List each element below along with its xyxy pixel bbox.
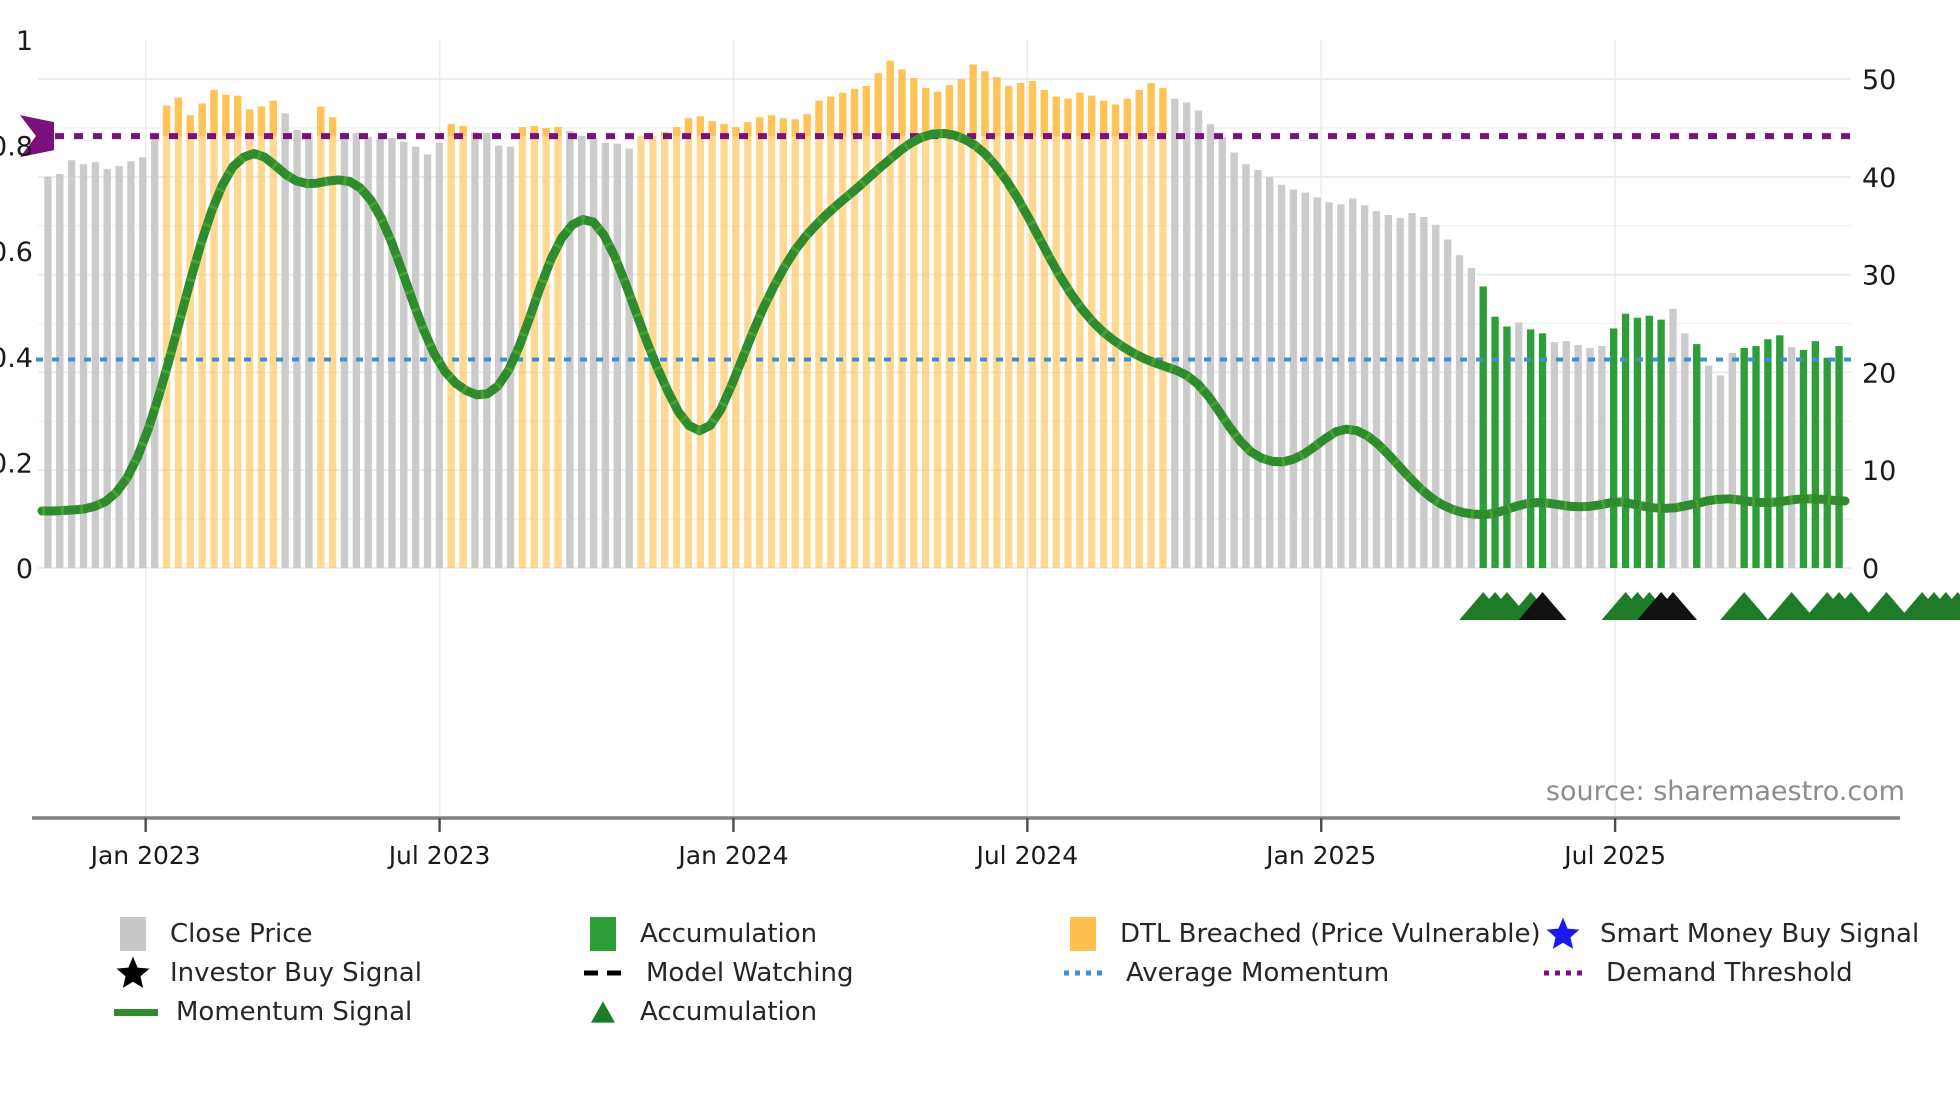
bar-close-price[interactable]	[1397, 218, 1404, 568]
bar-dtl-breached[interactable]	[827, 97, 834, 568]
bar-dtl-breached-cap[interactable]	[1159, 88, 1166, 136]
right-axis-labels: 01020304050	[1862, 65, 1896, 585]
bar-close-price[interactable]	[1266, 177, 1273, 568]
bar-close-price[interactable]	[614, 144, 621, 568]
bar-dtl-breached-cap[interactable]	[270, 101, 277, 136]
dotted-line-icon	[1542, 967, 1590, 979]
bar-accumulation[interactable]	[1800, 350, 1807, 568]
bar-accumulation[interactable]	[1610, 328, 1617, 568]
bar-dtl-breached[interactable]	[851, 89, 858, 568]
bar-close-price[interactable]	[1408, 213, 1415, 568]
bar-close-price[interactable]	[1254, 170, 1261, 568]
bar-accumulation[interactable]	[1835, 346, 1842, 568]
bar-dtl-breached[interactable]	[1053, 97, 1060, 568]
bar-accumulation[interactable]	[1752, 346, 1759, 568]
bar-close-price[interactable]	[1349, 198, 1356, 568]
bar-dtl-breached[interactable]	[542, 128, 549, 568]
bar-dtl-breached[interactable]	[839, 93, 846, 568]
legend-label: Demand Threshold	[1606, 954, 1853, 992]
legend-item-demand-threshold[interactable]: Demand Threshold	[1540, 954, 1853, 992]
bar-close-price[interactable]	[1242, 164, 1249, 568]
legend-item-accumulation-marker[interactable]: Accumulation	[580, 993, 817, 1031]
bar-close-price[interactable]	[1468, 268, 1475, 568]
legend-item-close-price[interactable]: Close Price	[110, 915, 313, 953]
bar-close-price[interactable]	[1207, 124, 1214, 568]
bar-dtl-breached[interactable]	[732, 127, 739, 568]
bar-dtl-breached[interactable]	[910, 78, 917, 568]
bar-close-price[interactable]	[1586, 348, 1593, 568]
legend-item-model-watching[interactable]: Model Watching	[580, 954, 853, 992]
x-axis-labels: Jan 2023Jul 2023Jan 2024Jul 2024Jan 2025…	[89, 818, 1666, 870]
legend-row-3: Momentum SignalAccumulation	[0, 993, 1960, 1031]
dotted-line-icon	[1062, 967, 1110, 979]
bar-dtl-breached[interactable]	[756, 117, 763, 568]
accumulation-markers	[1459, 592, 1960, 620]
left-axis-tick: 0.4	[0, 343, 33, 374]
bar-accumulation[interactable]	[1776, 335, 1783, 568]
bar-dtl-breached-cap[interactable]	[1076, 93, 1083, 136]
bar-dtl-breached-cap[interactable]	[1041, 90, 1048, 136]
bar-dtl-breached[interactable]	[792, 119, 799, 568]
bar-accumulation[interactable]	[1503, 326, 1510, 568]
bar-dtl-breached[interactable]	[673, 127, 680, 568]
bar-dtl-breached-cap[interactable]	[222, 95, 229, 136]
bar-dtl-breached[interactable]	[198, 104, 205, 568]
bar-dtl-breached-cap[interactable]	[886, 61, 893, 137]
bar-close-price[interactable]	[1171, 99, 1178, 568]
bar-dtl-breached-cap[interactable]	[1005, 86, 1012, 136]
bar-dtl-breached-cap[interactable]	[1100, 101, 1107, 136]
right-axis-tick: 20	[1862, 358, 1896, 389]
bar-dtl-breached[interactable]	[720, 124, 727, 568]
bar-dtl-breached-cap[interactable]	[1147, 83, 1154, 136]
bar-dtl-breached-cap[interactable]	[827, 97, 834, 136]
right-axis-tick: 50	[1862, 65, 1896, 96]
bar-dtl-breached-cap[interactable]	[1088, 96, 1095, 136]
dtl-breached-swatch	[1060, 917, 1106, 951]
bar-dtl-breached-cap[interactable]	[839, 93, 846, 136]
bar-dtl-breached-cap[interactable]	[448, 124, 455, 136]
legend-item-dtl-breached[interactable]: DTL Breached (Price Vulnerable)	[1060, 915, 1541, 953]
bar-close-price[interactable]	[1432, 225, 1439, 568]
bar-close-price[interactable]	[1705, 366, 1712, 568]
bar-close-price[interactable]	[1788, 347, 1795, 568]
bar-dtl-breached[interactable]	[1029, 81, 1036, 568]
bar-dtl-breached[interactable]	[922, 88, 929, 568]
bar-dtl-breached-cap[interactable]	[1053, 97, 1060, 136]
bar-close-price[interactable]	[1337, 204, 1344, 568]
bar-accumulation[interactable]	[1622, 314, 1629, 568]
bar-close-price[interactable]	[1290, 190, 1297, 568]
legend-row-1: Close PriceAccumulationDTL Breached (Pri…	[0, 915, 1960, 953]
bar-dtl-breached-cap[interactable]	[210, 90, 217, 136]
bar-dtl-breached[interactable]	[531, 126, 538, 568]
bar-close-price[interactable]	[1456, 255, 1463, 568]
bar-dtl-breached-cap[interactable]	[875, 73, 882, 136]
legend-row-2: Investor Buy SignalModel WatchingAverage…	[0, 954, 1960, 992]
bar-close-price[interactable]	[1681, 333, 1688, 568]
legend-item-accumulation-bar[interactable]: Accumulation	[580, 915, 817, 953]
bar-dtl-breached[interactable]	[993, 77, 1000, 568]
momentum-signal-swatch	[110, 1009, 162, 1016]
legend-item-momentum-signal[interactable]: Momentum Signal	[110, 993, 412, 1031]
source-note: source: sharemaestro.com	[1546, 776, 1905, 807]
legend-label: Close Price	[170, 915, 313, 953]
bar-accumulation[interactable]	[1634, 318, 1641, 568]
accumulation-marker[interactable]	[1720, 592, 1768, 620]
bar-close-price[interactable]	[341, 134, 348, 568]
bar-close-price[interactable]	[1313, 197, 1320, 568]
bar-dtl-breached[interactable]	[1076, 93, 1083, 568]
bar-dtl-breached-cap[interactable]	[803, 114, 810, 136]
legend-label: Momentum Signal	[176, 993, 412, 1031]
bar-dtl-breached-cap[interactable]	[732, 127, 739, 136]
legend-item-average-momentum[interactable]: Average Momentum	[1060, 954, 1389, 992]
bar-dtl-breached[interactable]	[946, 85, 953, 568]
bar-dtl-breached[interactable]	[1159, 88, 1166, 568]
bar-dtl-breached[interactable]	[958, 79, 965, 568]
triangle-up-icon	[586, 996, 620, 1028]
bar-dtl-breached[interactable]	[1041, 90, 1048, 568]
bar-accumulation[interactable]	[1527, 329, 1534, 568]
bar-dtl-breached-cap[interactable]	[542, 128, 549, 136]
bar-dtl-breached-cap[interactable]	[969, 64, 976, 136]
x-axis-tick-label: Jan 2023	[89, 841, 201, 870]
bar-dtl-breached[interactable]	[317, 106, 324, 568]
bar-close-price[interactable]	[590, 138, 597, 568]
bar-accumulation[interactable]	[1812, 341, 1819, 568]
bar-dtl-breached[interactable]	[875, 73, 882, 568]
solid-line-icon	[114, 1009, 158, 1016]
bar-close-price[interactable]	[400, 142, 407, 568]
bar-dtl-breached[interactable]	[258, 106, 265, 568]
bar-dtl-breached[interactable]	[448, 124, 455, 568]
bar-dtl-breached[interactable]	[934, 92, 941, 568]
bar-close-price[interactable]	[566, 131, 573, 568]
bar-close-price[interactable]	[578, 136, 585, 568]
square-icon	[120, 917, 146, 951]
bar-close-price[interactable]	[1278, 185, 1285, 568]
bar-dtl-breached[interactable]	[1005, 86, 1012, 568]
legend-label: Model Watching	[646, 954, 853, 992]
demand-threshold-swatch	[1540, 967, 1592, 979]
investor-buy-signal-swatch	[110, 954, 156, 992]
bar-accumulation[interactable]	[1539, 333, 1546, 568]
right-axis-tick: 10	[1862, 456, 1896, 487]
bar-dtl-breached[interactable]	[163, 106, 170, 568]
bar-dtl-breached[interactable]	[1064, 99, 1071, 568]
bar-close-price[interactable]	[1563, 341, 1570, 568]
bar-dtl-breached-cap[interactable]	[898, 69, 905, 136]
dashed-line-icon	[582, 967, 630, 979]
bar-dtl-breached[interactable]	[1088, 96, 1095, 568]
bar-dtl-breached[interactable]	[780, 118, 787, 568]
bar-dtl-breached-cap[interactable]	[1017, 83, 1024, 136]
close-price-swatch	[110, 917, 156, 951]
bar-close-price[interactable]	[1669, 309, 1676, 568]
bar-close-price[interactable]	[305, 133, 312, 568]
x-axis-tick-label: Jul 2023	[387, 841, 491, 870]
bar-dtl-breached-cap[interactable]	[198, 104, 205, 137]
accumulation-marker-swatch	[580, 996, 626, 1028]
bar-dtl-breached[interactable]	[1017, 83, 1024, 568]
bar-close-price[interactable]	[1219, 137, 1226, 568]
right-axis-tick: 40	[1862, 163, 1896, 194]
bar-close-price[interactable]	[1598, 346, 1605, 568]
square-icon	[590, 917, 616, 951]
bar-dtl-breached[interactable]	[637, 136, 644, 568]
x-axis-tick-label: Jul 2025	[1562, 841, 1666, 870]
bar-close-price[interactable]	[1729, 353, 1736, 568]
bar-close-price[interactable]	[1325, 202, 1332, 568]
right-axis-tick: 0	[1862, 554, 1879, 585]
bar-dtl-breached[interactable]	[685, 118, 692, 568]
bar-dtl-breached-cap[interactable]	[175, 98, 182, 136]
bar-close-price[interactable]	[1361, 205, 1368, 568]
bar-dtl-breached-cap[interactable]	[946, 85, 953, 136]
bar-accumulation[interactable]	[1491, 317, 1498, 568]
bar-close-price[interactable]	[1717, 375, 1724, 568]
bar-dtl-breached[interactable]	[697, 116, 704, 568]
bar-dtl-breached-cap[interactable]	[1136, 90, 1143, 136]
bar-close-price[interactable]	[1183, 103, 1190, 568]
bar-dtl-breached[interactable]	[554, 127, 561, 568]
left-axis-tick: 0.8	[0, 132, 33, 163]
x-axis-tick-label: Jan 2025	[1264, 841, 1376, 870]
bar-accumulation[interactable]	[1824, 358, 1831, 568]
bar-dtl-breached[interactable]	[815, 101, 822, 568]
bar-close-price[interactable]	[127, 161, 134, 568]
legend-label: Smart Money Buy Signal	[1600, 915, 1919, 953]
bar-dtl-breached-cap[interactable]	[1064, 99, 1071, 136]
bar-close-price[interactable]	[1444, 239, 1451, 568]
bar-close-price[interactable]	[1195, 110, 1202, 568]
bar-accumulation[interactable]	[1646, 316, 1653, 568]
chart-legend: Close PriceAccumulationDTL Breached (Pri…	[0, 915, 1960, 1095]
legend-item-investor-buy-signal[interactable]: Investor Buy Signal	[110, 954, 422, 992]
x-axis-tick-label: Jul 2024	[974, 841, 1078, 870]
bar-dtl-breached[interactable]	[1136, 90, 1143, 568]
bar-dtl-breached-cap[interactable]	[815, 101, 822, 136]
bar-accumulation[interactable]	[1693, 344, 1700, 568]
smart-money-buy-signal-swatch	[1540, 915, 1586, 953]
bar-accumulation[interactable]	[1657, 320, 1664, 568]
left-axis-tick: 0.2	[0, 448, 33, 479]
left-axis-tick: 1	[16, 26, 33, 57]
bar-dtl-breached-cap[interactable]	[187, 115, 194, 136]
average-momentum-swatch	[1060, 967, 1112, 979]
bar-close-price[interactable]	[1551, 342, 1558, 568]
bar-dtl-breached-cap[interactable]	[163, 106, 170, 137]
bar-dtl-breached[interactable]	[709, 121, 716, 568]
bar-close-price[interactable]	[1574, 345, 1581, 568]
star-icon	[1544, 915, 1582, 953]
bar-dtl-breached-cap[interactable]	[922, 88, 929, 136]
bar-dtl-breached[interactable]	[661, 132, 668, 568]
bar-close-price[interactable]	[602, 143, 609, 568]
bar-close-price[interactable]	[281, 113, 288, 568]
bar-dtl-breached-cap[interactable]	[981, 71, 988, 136]
left-axis-labels: 00.20.40.60.81	[0, 26, 33, 585]
bar-close-price[interactable]	[1373, 211, 1380, 568]
bar-dtl-breached-cap[interactable]	[673, 127, 680, 136]
bar-dtl-breached-cap[interactable]	[1029, 81, 1036, 136]
x-axis-tick-label: Jan 2024	[676, 841, 788, 870]
bar-dtl-breached-cap[interactable]	[910, 78, 917, 136]
bar-dtl-breached[interactable]	[187, 115, 194, 568]
bar-dtl-breached-cap[interactable]	[1124, 99, 1131, 136]
bar-dtl-breached[interactable]	[1147, 83, 1154, 568]
bar-dtl-breached-cap[interactable]	[329, 117, 336, 136]
bar-dtl-breached-cap[interactable]	[851, 89, 858, 136]
bar-close-price[interactable]	[412, 147, 419, 568]
bar-accumulation[interactable]	[1764, 339, 1771, 568]
legend-label: Accumulation	[640, 993, 817, 1031]
left-axis-tick: 0.6	[0, 237, 33, 268]
bar-close-price[interactable]	[1302, 193, 1309, 568]
bar-dtl-breached-cap[interactable]	[863, 86, 870, 136]
bar-dtl-breached-cap[interactable]	[1112, 105, 1119, 137]
bar-dtl-breached[interactable]	[863, 86, 870, 568]
bar-close-price[interactable]	[471, 132, 478, 568]
bar-dtl-breached[interactable]	[210, 90, 217, 568]
bar-dtl-breached-cap[interactable]	[258, 106, 265, 136]
bar-dtl-breached-cap[interactable]	[234, 96, 241, 136]
bar-dtl-breached-cap[interactable]	[768, 115, 775, 136]
legend-item-smart-money-buy-signal[interactable]: Smart Money Buy Signal	[1540, 915, 1919, 953]
bar-close-price[interactable]	[293, 130, 300, 568]
star-icon	[114, 954, 152, 992]
square-icon	[1070, 917, 1096, 951]
bar-dtl-breached[interactable]	[768, 115, 775, 568]
legend-label: DTL Breached (Price Vulnerable)	[1120, 915, 1541, 953]
bar-close-price[interactable]	[115, 166, 122, 568]
bar-close-price[interactable]	[1420, 217, 1427, 568]
right-axis-tick: 30	[1862, 261, 1896, 292]
legend-label: Accumulation	[640, 915, 817, 953]
bar-dtl-breached-cap[interactable]	[317, 106, 324, 136]
model-watching-swatch	[580, 967, 632, 979]
bar-close-price[interactable]	[1385, 215, 1392, 568]
bar-accumulation[interactable]	[1740, 348, 1747, 568]
bar-close-price[interactable]	[495, 146, 502, 568]
bar-dtl-breached-cap[interactable]	[993, 77, 1000, 136]
bar-close-price[interactable]	[483, 133, 490, 568]
bar-dtl-breached[interactable]	[803, 114, 810, 568]
accumulation-bar-swatch	[580, 917, 626, 951]
bar-dtl-breached[interactable]	[1124, 99, 1131, 568]
bar-close-price[interactable]	[104, 169, 111, 568]
left-axis-tick: 0	[16, 554, 33, 585]
bar-dtl-breached-cap[interactable]	[246, 109, 253, 136]
bar-close-price[interactable]	[139, 157, 146, 568]
bar-dtl-breached[interactable]	[459, 126, 466, 568]
bar-dtl-breached-cap[interactable]	[958, 79, 965, 136]
bar-close-price[interactable]	[1515, 323, 1522, 568]
bar-close-price[interactable]	[388, 138, 395, 568]
legend-label: Investor Buy Signal	[170, 954, 422, 992]
bar-close-price[interactable]	[353, 133, 360, 568]
bar-close-price[interactable]	[151, 136, 158, 568]
bar-accumulation[interactable]	[1480, 286, 1487, 568]
legend-label: Average Momentum	[1126, 954, 1389, 992]
bar-dtl-breached[interactable]	[246, 109, 253, 568]
